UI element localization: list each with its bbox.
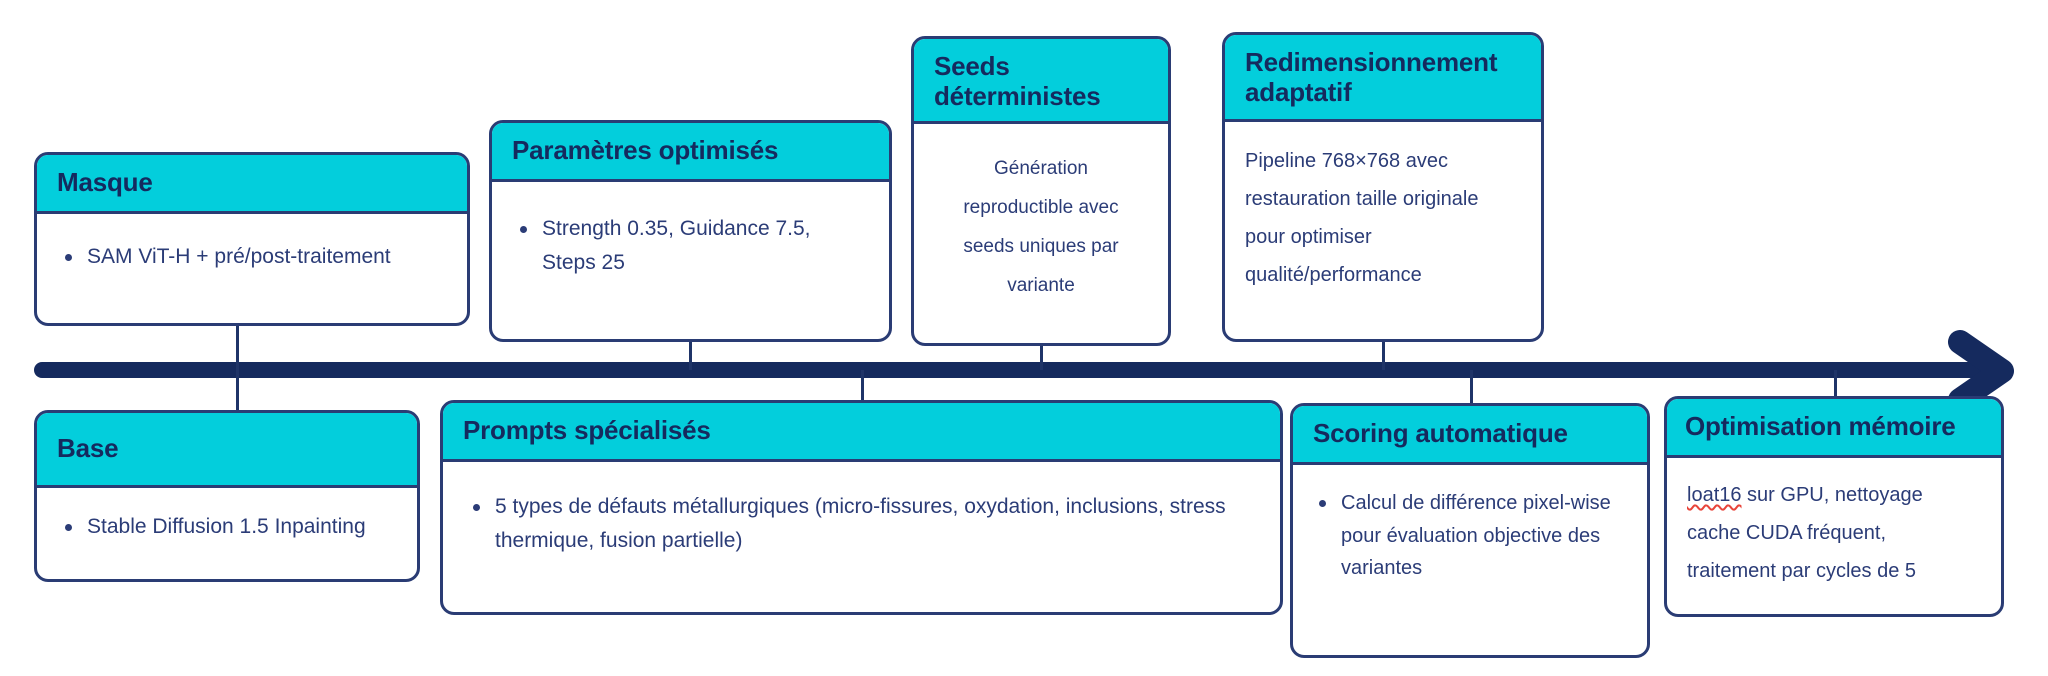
connector-seeds <box>1040 346 1043 370</box>
card-base-title: Base <box>37 413 417 488</box>
card-parametres-optimises[interactable]: Paramètres optimisés Strength 0.35, Guid… <box>489 120 892 342</box>
card-seeds-body: Génération reproductible avec seeds uniq… <box>914 124 1168 316</box>
misspelled-word: loat16 <box>1687 484 1742 506</box>
list-item: Stable Diffusion 1.5 Inpainting <box>61 510 393 544</box>
card-scoring-title: Scoring automatique <box>1293 406 1647 465</box>
connector-resize <box>1382 342 1385 370</box>
card-base-bullet-list: Stable Diffusion 1.5 Inpainting <box>61 510 393 544</box>
card-masque-body: SAM ViT-H + pré/post-traitement <box>37 214 467 292</box>
card-resize-body: Pipeline 768×768 avec restauration taill… <box>1225 122 1541 304</box>
card-memoire-title: Optimisation mémoire <box>1667 399 2001 458</box>
card-masque-title: Masque <box>37 155 467 214</box>
connector-base <box>236 370 239 414</box>
list-item: SAM ViT-H + pré/post-traitement <box>61 240 443 274</box>
connector-prompts <box>861 370 864 404</box>
connector-parametres <box>689 342 692 370</box>
body-line: restauration taille originale <box>1245 180 1521 218</box>
body-line: Génération <box>932 150 1150 189</box>
connector-scoring <box>1470 370 1473 406</box>
card-masque[interactable]: Masque SAM ViT-H + pré/post-traitement <box>34 152 470 326</box>
body-line: loat16 sur GPU, nettoyage <box>1687 476 1981 514</box>
card-prompts-title: Prompts spécialisés <box>443 403 1280 462</box>
card-base-body: Stable Diffusion 1.5 Inpainting <box>37 488 417 562</box>
card-scoring-bullet-list: Calcul de différence pixel-wise pour éva… <box>1315 487 1625 584</box>
card-prompts-bullet-list: 5 types de défauts métallurgiques (micro… <box>469 490 1254 558</box>
card-seeds-title: Seeds déterministes <box>914 39 1168 124</box>
card-base[interactable]: Base Stable Diffusion 1.5 Inpainting <box>34 410 420 582</box>
connector-masque <box>236 326 239 370</box>
timeline-axis-bar <box>34 362 1984 378</box>
card-parametres-title: Paramètres optimisés <box>492 123 889 182</box>
body-line: pour optimiser <box>1245 218 1521 256</box>
card-prompts-body: 5 types de défauts métallurgiques (micro… <box>443 462 1280 574</box>
body-line: seeds uniques par <box>932 228 1150 267</box>
list-item: 5 types de défauts métallurgiques (micro… <box>469 490 1254 558</box>
card-memoire-body: loat16 sur GPU, nettoyage cache CUDA fré… <box>1667 458 2001 600</box>
body-line: traitement par cycles de 5 <box>1687 552 1981 590</box>
card-seeds-deterministes[interactable]: Seeds déterministes Génération reproduct… <box>911 36 1171 346</box>
body-line: qualité/performance <box>1245 256 1521 294</box>
card-redimensionnement-adaptatif[interactable]: Redimensionnement adaptatif Pipeline 768… <box>1222 32 1544 342</box>
card-parametres-body: Strength 0.35, Guidance 7.5, Steps 25 <box>492 182 889 298</box>
card-resize-title: Redimensionnement adaptatif <box>1225 35 1541 122</box>
body-line-rest: sur GPU, nettoyage <box>1742 484 1923 506</box>
card-parametres-bullet-list: Strength 0.35, Guidance 7.5, Steps 25 <box>516 212 865 280</box>
list-item: Calcul de différence pixel-wise pour éva… <box>1315 487 1625 584</box>
card-prompts-specialises[interactable]: Prompts spécialisés 5 types de défauts m… <box>440 400 1283 615</box>
card-scoring-automatique[interactable]: Scoring automatique Calcul de différence… <box>1290 403 1650 658</box>
body-line: reproductible avec <box>932 189 1150 228</box>
body-line: cache CUDA fréquent, <box>1687 514 1981 552</box>
card-optimisation-memoire[interactable]: Optimisation mémoire loat16 sur GPU, net… <box>1664 396 2004 617</box>
timeline-diagram: Masque SAM ViT-H + pré/post-traitement P… <box>0 0 2048 676</box>
body-line: Pipeline 768×768 avec <box>1245 142 1521 180</box>
list-item: Strength 0.35, Guidance 7.5, Steps 25 <box>516 212 865 280</box>
card-masque-bullet-list: SAM ViT-H + pré/post-traitement <box>61 240 443 274</box>
body-line: variante <box>932 267 1150 306</box>
card-scoring-body: Calcul de différence pixel-wise pour éva… <box>1293 465 1647 598</box>
